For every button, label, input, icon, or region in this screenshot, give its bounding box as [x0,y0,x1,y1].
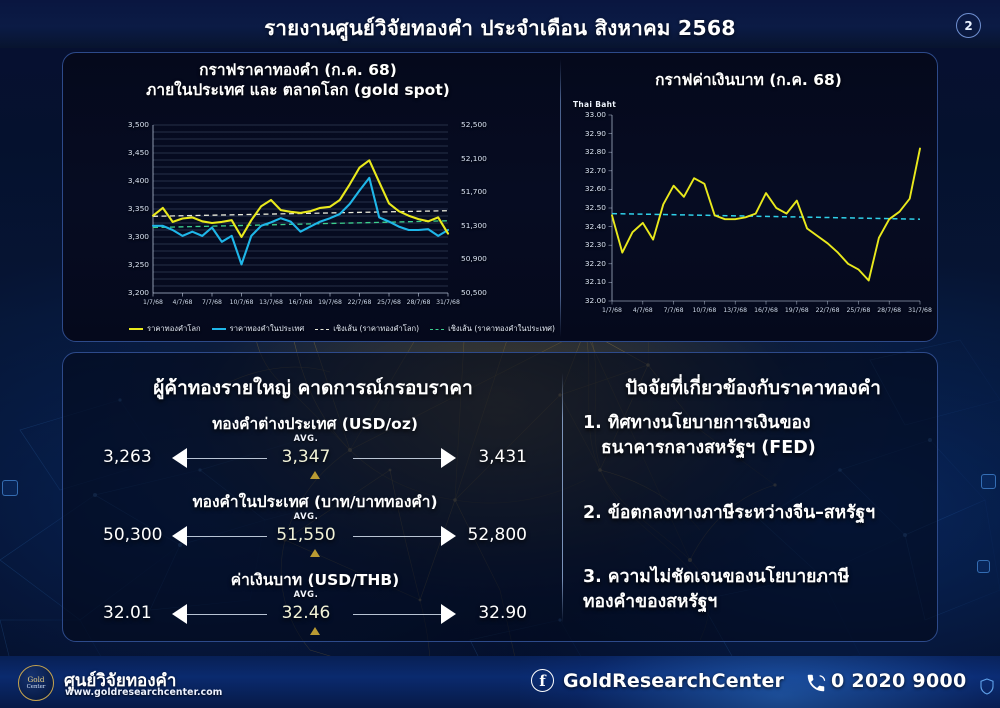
baht-xtick-2: 7/7/68 [661,307,687,314]
legend-swatch-world-gold [129,328,143,330]
brand-logo-top-text: Gold [28,676,45,684]
facebook-page-name[interactable]: GoldResearchCenter [563,670,784,692]
gold-ytick-1: 3,250 [115,260,149,269]
baht-ytick-9: 32.90 [574,129,606,138]
forecast-avg-caption-0: AVG. [86,433,526,443]
factor-item-0: 1. ทิศทางนโยบายการเงินของ ธนาคารกลางสหรั… [583,411,938,461]
forecast-avg-caption-1: AVG. [86,511,526,521]
baht-xtick-6: 19/7/68 [784,307,810,314]
baht-xtick-3: 10/7/68 [691,307,717,314]
baht-xtick-7: 22/7/68 [815,307,841,314]
gold-ytick-5: 3,450 [115,148,149,157]
gold-ytick-2: 3,300 [115,232,149,241]
baht-xtick-8: 25/7/68 [845,307,871,314]
legend-swatch-local-gold [212,328,226,330]
baht-ytick-10: 33.00 [574,110,606,119]
phone-number[interactable]: 0 2020 9000 [831,670,967,692]
gold-ytick-6: 3,500 [115,120,149,129]
gold-xtick-10: 31/7/68 [435,299,461,306]
baht-ytick-0: 32.00 [574,296,606,305]
factor-item-0-line1: 1. ทิศทางนโยบายการเงินของ [583,411,938,436]
gold-xtick-4: 13/7/68 [258,299,284,306]
decor-chip-right-2 [977,560,990,573]
factor-item-0-line2: ธนาคารกลางสหรัฐฯ (FED) [583,436,938,461]
facebook-icon[interactable]: f [531,669,554,692]
factor-item-1-line1: 2. ข้อตกลงทางภาษีระหว่างจีน–สหรัฐฯ [583,501,938,526]
gold-chart-title-line2: ภายในประเทศ และ ตลาดโลก (gold spot) [63,81,533,100]
page-number-badge: 2 [956,13,981,38]
gold-xtick-5: 16/7/68 [288,299,314,306]
legend-label-trend-local: เชิงเส้น (ราคาทองคำในประเทศ) [448,323,555,335]
legend-swatch-trend-local [430,329,444,330]
legend-item-world-gold: ราคาทองคำโลก [129,323,201,335]
gold-ytick-4: 3,400 [115,176,149,185]
forecast-avg-2: 32.46 [86,603,526,623]
gold-y2tick-3: 51,700 [461,187,487,196]
gold-ytick-3: 3,350 [115,204,149,213]
baht-ytick-4: 32.40 [574,222,606,231]
baht-ytick-1: 32.10 [574,277,606,286]
gold-y2tick-2: 51,300 [461,221,487,230]
forecast-range-1: 50,300 52,800 AVG. 51,550 [95,519,535,559]
baht-ytick-2: 32.20 [574,259,606,268]
gold-xtick-2: 7/7/68 [199,299,225,306]
legend-item-trend-world: เชิงเส้น (ราคาทองคำโลก) [315,323,419,335]
gold-xtick-7: 22/7/68 [347,299,373,306]
gold-y2tick-5: 52,500 [461,120,487,129]
page-title: รายงานศูนย์วิจัยทองคำ ประจำเดือน สิงหาคม… [0,12,1000,45]
forecast-avg-marker-0 [310,471,320,479]
gold-xtick-6: 19/7/68 [317,299,343,306]
legend-label-world-gold: ราคาทองคำโลก [147,323,201,335]
baht-xtick-0: 1/7/68 [599,307,625,314]
shield-icon [980,678,994,695]
phone-icon [805,672,827,694]
gold-chart-title-line1: กราฟราคาทองคำ (ก.ค. 68) [63,61,533,80]
gold-y2tick-0: 50,500 [461,288,487,297]
forecast-title: ผู้ค้าทองรายใหญ่ คาดการณ์กรอบราคา [73,373,553,403]
factor-item-2-line2: ทองคำของสหรัฐฯ [583,590,938,615]
baht-chart-title: กราฟค่าเงินบาท (ก.ค. 68) [560,71,937,90]
forecast-range-0: 3,263 3,431 AVG. 3,347 [95,441,535,481]
baht-ytick-6: 32.60 [574,184,606,193]
gold-y2tick-4: 52,100 [461,154,487,163]
legend-item-local-gold: ราคาทองคำในประเทศ [212,323,305,335]
factor-item-2-line1: 3. ความไม่ชัดเจนของนโยบายภาษี [583,565,938,590]
factor-item-1: 2. ข้อตกลงทางภาษีระหว่างจีน–สหรัฐฯ [583,501,938,526]
gold-chart-legend: ราคาทองคำโลก ราคาทองคำในประเทศ เชิงเส้น … [129,323,555,335]
decor-chip-left [2,480,18,496]
gold-xtick-0: 1/7/68 [140,299,166,306]
baht-xtick-9: 28/7/68 [876,307,902,314]
baht-xtick-10: 31/7/68 [907,307,933,314]
gold-ytick-0: 3,200 [115,288,149,297]
forecast-avg-1: 51,550 [86,525,526,545]
footer-band: Gold Center ศูนย์วิจัยทองคำ www.goldrese… [0,656,1000,708]
gold-xtick-8: 25/7/68 [376,299,402,306]
legend-swatch-trend-world [315,329,329,330]
gold-xtick-9: 28/7/68 [406,299,432,306]
charts-panel: กราฟราคาทองคำ (ก.ค. 68) ภายในประเทศ และ … [62,52,938,342]
forecast-avg-marker-2 [310,627,320,635]
baht-xtick-1: 4/7/68 [630,307,656,314]
summary-panel-divider [562,373,563,623]
gold-y2tick-1: 50,900 [461,254,487,263]
legend-label-trend-world: เชิงเส้น (ราคาทองคำโลก) [333,323,419,335]
baht-ytick-5: 32.50 [574,203,606,212]
forecast-avg-0: 3,347 [86,447,526,467]
forecast-avg-caption-2: AVG. [86,589,526,599]
legend-label-local-gold: ราคาทองคำในประเทศ [230,323,305,335]
gold-xtick-1: 4/7/68 [170,299,196,306]
factor-item-2: 3. ความไม่ชัดเจนของนโยบายภาษี ทองคำของสห… [583,565,938,615]
baht-xtick-4: 13/7/68 [722,307,748,314]
brand-logo: Gold Center [18,665,54,701]
baht-xtick-5: 16/7/68 [753,307,779,314]
summary-panel: ผู้ค้าทองรายใหญ่ คาดการณ์กรอบราคา ทองคำต… [62,352,938,642]
brand-logo-bottom-text: Center [27,684,46,690]
factors-title: ปัจจัยที่เกี่ยวข้องกับราคาทองคำ [573,373,933,403]
baht-ytick-7: 32.70 [574,166,606,175]
baht-ytick-3: 32.30 [574,240,606,249]
decor-chip-right-1 [981,474,996,489]
forecast-range-2: 32.01 32.90 AVG. 32.46 [95,597,535,637]
forecast-avg-marker-1 [310,549,320,557]
baht-exchange-rate-chart [560,105,937,335]
gold-xtick-3: 10/7/68 [229,299,255,306]
brand-website-url: www.goldresearchcenter.com [65,687,222,698]
baht-ytick-8: 32.80 [574,147,606,156]
legend-item-trend-local: เชิงเส้น (ราคาทองคำในประเทศ) [430,323,555,335]
